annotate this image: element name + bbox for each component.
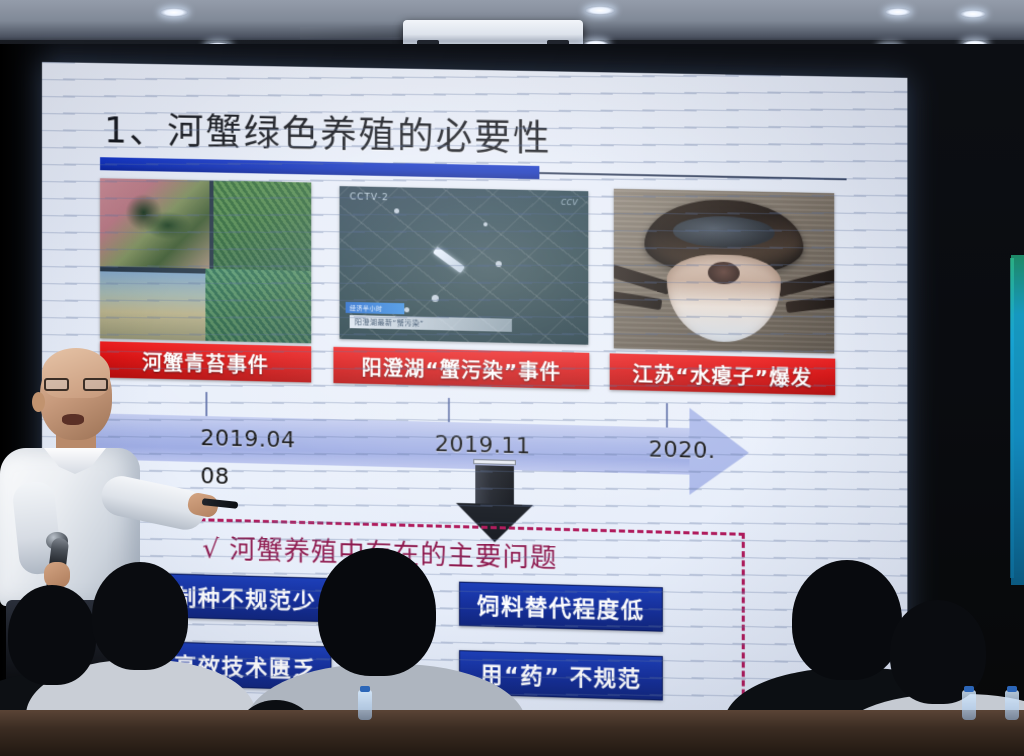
cctv-chyron-title-text: 经济半小时	[350, 303, 383, 313]
cctv-corner-watermark: ccv	[561, 197, 578, 208]
water-bottle	[358, 690, 372, 720]
down-arrow-cap	[473, 459, 516, 465]
timeline-date-1-line1: 2019.04	[200, 426, 295, 454]
water-bottle	[962, 690, 976, 720]
caption-water-bloat-event: 江苏“水瘪子”爆发	[610, 353, 836, 395]
cctv-speck	[431, 295, 438, 302]
title-underline-rule	[539, 172, 846, 180]
photo-cctv-news: CCTV-2 ccv 经济半小时 阳澄湖最新“蟹污染”	[340, 186, 589, 345]
audience-member-head	[8, 585, 96, 685]
glasses-icon	[44, 378, 108, 391]
collage-cell-pond-shore	[100, 271, 205, 341]
ceiling-vent	[300, 25, 400, 39]
photo-moss-collage	[100, 178, 311, 343]
presenter-mouth	[62, 414, 84, 425]
bottle-cap	[964, 686, 974, 692]
bottle-cap	[1007, 686, 1017, 692]
audience-member-head	[792, 560, 902, 680]
timeline-date-3: 2020.	[649, 437, 716, 464]
cctv-chyron-subtitle-text: 阳澄湖最新“蟹污染”	[355, 317, 424, 329]
collage-cell-crab-moss	[100, 178, 210, 269]
problem-box-feed-substitution: 饲料替代程度低	[459, 582, 663, 632]
down-arrow-stem	[475, 465, 514, 506]
presenter-ear	[32, 392, 45, 412]
collage-cell-moss-water	[205, 269, 311, 344]
caption-pollution-event: 阳澄湖“蟹污染”事件	[333, 347, 589, 389]
slide-title: 1、河蟹绿色养殖的必要性	[104, 101, 551, 162]
screenshot-stage: 1、河蟹绿色养殖的必要性 CCTV-2 ccv	[0, 0, 1024, 756]
cctv-speck	[404, 307, 409, 312]
cctv-chyron-title: 经济半小时	[346, 302, 405, 314]
front-table	[0, 710, 1024, 756]
spot-light	[585, 6, 615, 15]
spot-light	[885, 8, 911, 16]
bottle-cap	[360, 686, 370, 692]
spot-light	[960, 10, 986, 18]
photo-crab	[614, 189, 834, 354]
presenter-left-hand	[44, 562, 70, 588]
wall-accent-strip-inner	[1010, 258, 1014, 578]
collage-cell-moss-dense	[214, 181, 311, 276]
audience-member-head	[318, 548, 436, 676]
audience-member-head	[92, 562, 188, 670]
spot-light	[160, 8, 188, 17]
projector-lens-slot	[451, 34, 537, 39]
timeline-date-2: 2019.11	[435, 432, 531, 460]
cctv-channel-logo: CCTV-2	[350, 192, 389, 203]
water-bottle	[1005, 690, 1019, 720]
